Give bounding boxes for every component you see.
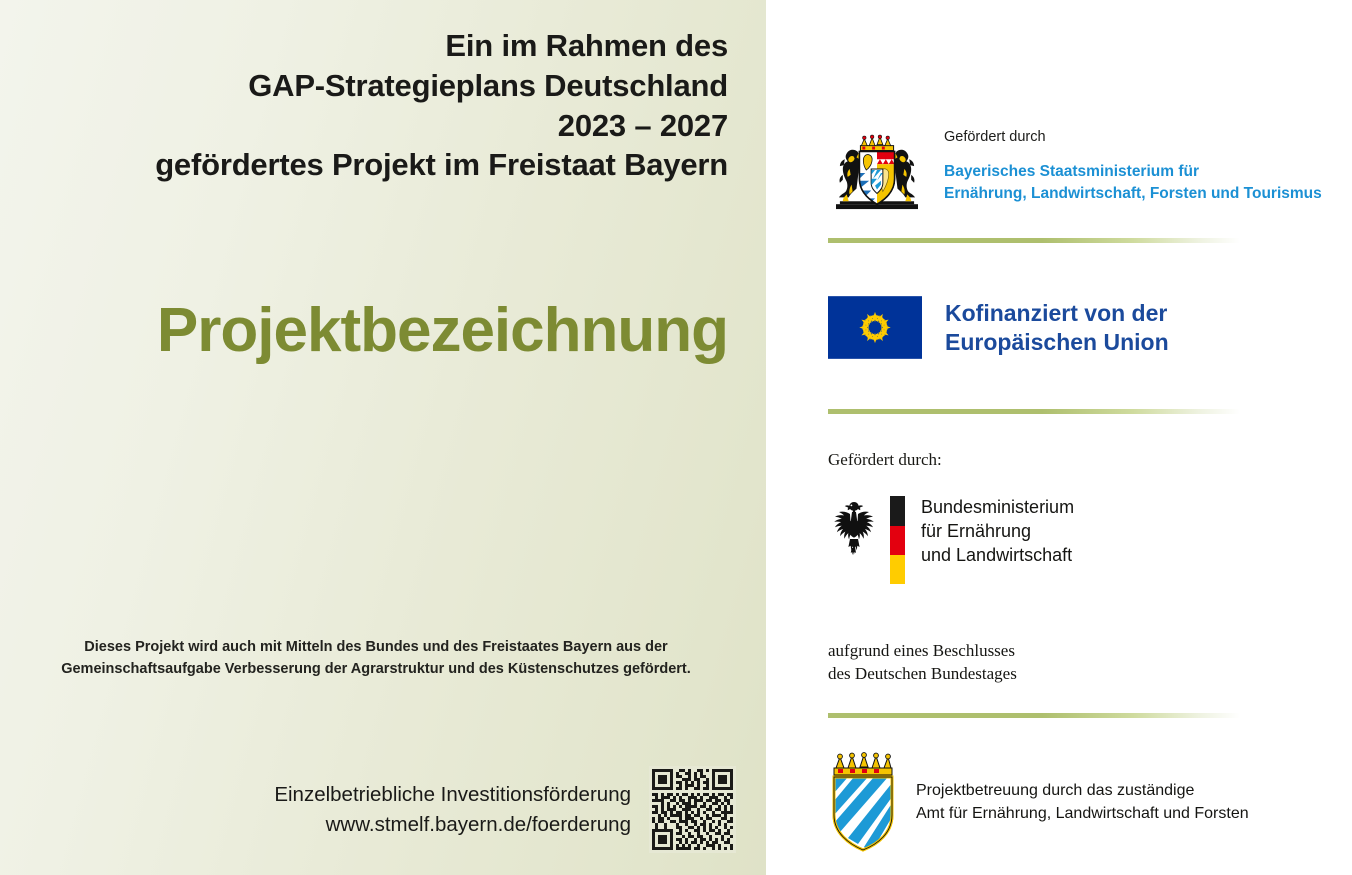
left-panel: Ein im Rahmen des GAP-Strategieplans Deu… bbox=[0, 0, 766, 875]
disclaimer-line-1: Dieses Projekt wird auch mit Mitteln des… bbox=[20, 636, 732, 658]
aelf-text-line-1: Projektbetreuung durch das zuständige bbox=[916, 779, 1249, 802]
stmelf-name: Bayerisches Staatsministerium für Ernähr… bbox=[944, 161, 1322, 205]
stmelf-name-line-1: Bayerisches Staatsministerium für bbox=[944, 161, 1322, 183]
european-union-flag-icon bbox=[828, 296, 922, 359]
bmel-name: Bundesministerium für Ernährung und Land… bbox=[921, 496, 1074, 568]
footer-text: Einzelbetriebliche Investitionsförderung… bbox=[274, 780, 631, 838]
right-column: Gefördert durch Bayerisches Staatsminist… bbox=[766, 0, 1352, 875]
project-title: Projektbezeichnung bbox=[0, 300, 728, 362]
aelf-text-line-2: Amt für Ernährung, Landwirtschaft und Fo… bbox=[916, 802, 1249, 825]
footer-row: Einzelbetriebliche Investitionsförderung… bbox=[0, 766, 736, 853]
bmel-footnote-line-1: aufgrund eines Beschlusses bbox=[828, 640, 1017, 663]
bmel-name-line-2: für Ernährung bbox=[921, 520, 1074, 544]
eu-text-line-2: Europäischen Union bbox=[945, 328, 1169, 357]
headline-line-1: Ein im Rahmen des bbox=[28, 26, 728, 66]
bavarian-state-coat-of-arms-icon bbox=[828, 130, 926, 212]
federal-eagle-icon bbox=[828, 498, 880, 560]
bmel-block: Bundesministerium für Ernährung und Land… bbox=[828, 496, 1074, 584]
poster-root: Ein im Rahmen des GAP-Strategieplans Deu… bbox=[0, 0, 1352, 875]
qr-code-icon[interactable] bbox=[649, 766, 736, 853]
headline: Ein im Rahmen des GAP-Strategieplans Deu… bbox=[28, 26, 728, 185]
bmel-footnote-line-2: des Deutschen Bundestages bbox=[828, 663, 1017, 686]
bmel-kicker-wrap: Gefördert durch: bbox=[828, 450, 942, 470]
headline-line-4: gefördertes Projekt im Freistaat Bayern bbox=[28, 145, 728, 185]
eu-text-line-1: Kofinanziert von der bbox=[945, 299, 1169, 328]
footer-line-1: Einzelbetriebliche Investitionsförderung bbox=[274, 780, 631, 809]
aelf-block: Projektbetreuung durch das zuständige Am… bbox=[828, 752, 1249, 852]
headline-line-2: GAP-Strategieplans Deutschland bbox=[28, 66, 728, 106]
divider-3 bbox=[828, 713, 1240, 718]
divider-2 bbox=[828, 409, 1240, 414]
disclaimer-line-2: Gemeinschaftsaufgabe Verbesserung der Ag… bbox=[20, 658, 732, 680]
eu-text: Kofinanziert von der Europäischen Union bbox=[945, 299, 1169, 356]
aelf-text: Projektbetreuung durch das zuständige Am… bbox=[916, 779, 1249, 825]
stmelf-block: Gefördert durch Bayerisches Staatsminist… bbox=[828, 128, 1322, 212]
bmel-name-line-1: Bundesministerium bbox=[921, 496, 1074, 520]
bmel-kicker: Gefördert durch: bbox=[828, 450, 942, 470]
eu-block: Kofinanziert von der Europäischen Union bbox=[828, 296, 1169, 359]
stmelf-text: Gefördert durch Bayerisches Staatsminist… bbox=[944, 128, 1322, 205]
divider-1 bbox=[828, 238, 1240, 243]
headline-line-3: 2023 – 2027 bbox=[28, 106, 728, 146]
footer-website[interactable]: www.stmelf.bayern.de/foerderung bbox=[274, 810, 631, 839]
german-flag-bar-icon bbox=[890, 496, 905, 584]
bmel-name-line-3: und Landwirtschaft bbox=[921, 544, 1074, 568]
disclaimer-text: Dieses Projekt wird auch mit Mitteln des… bbox=[20, 636, 732, 680]
stmelf-kicker: Gefördert durch bbox=[944, 129, 1322, 146]
stmelf-name-line-2: Ernährung, Landwirtschaft, Forsten und T… bbox=[944, 183, 1322, 205]
bmel-footnote: aufgrund eines Beschlusses des Deutschen… bbox=[828, 640, 1017, 686]
bavaria-lozenge-shield-icon bbox=[828, 752, 898, 852]
